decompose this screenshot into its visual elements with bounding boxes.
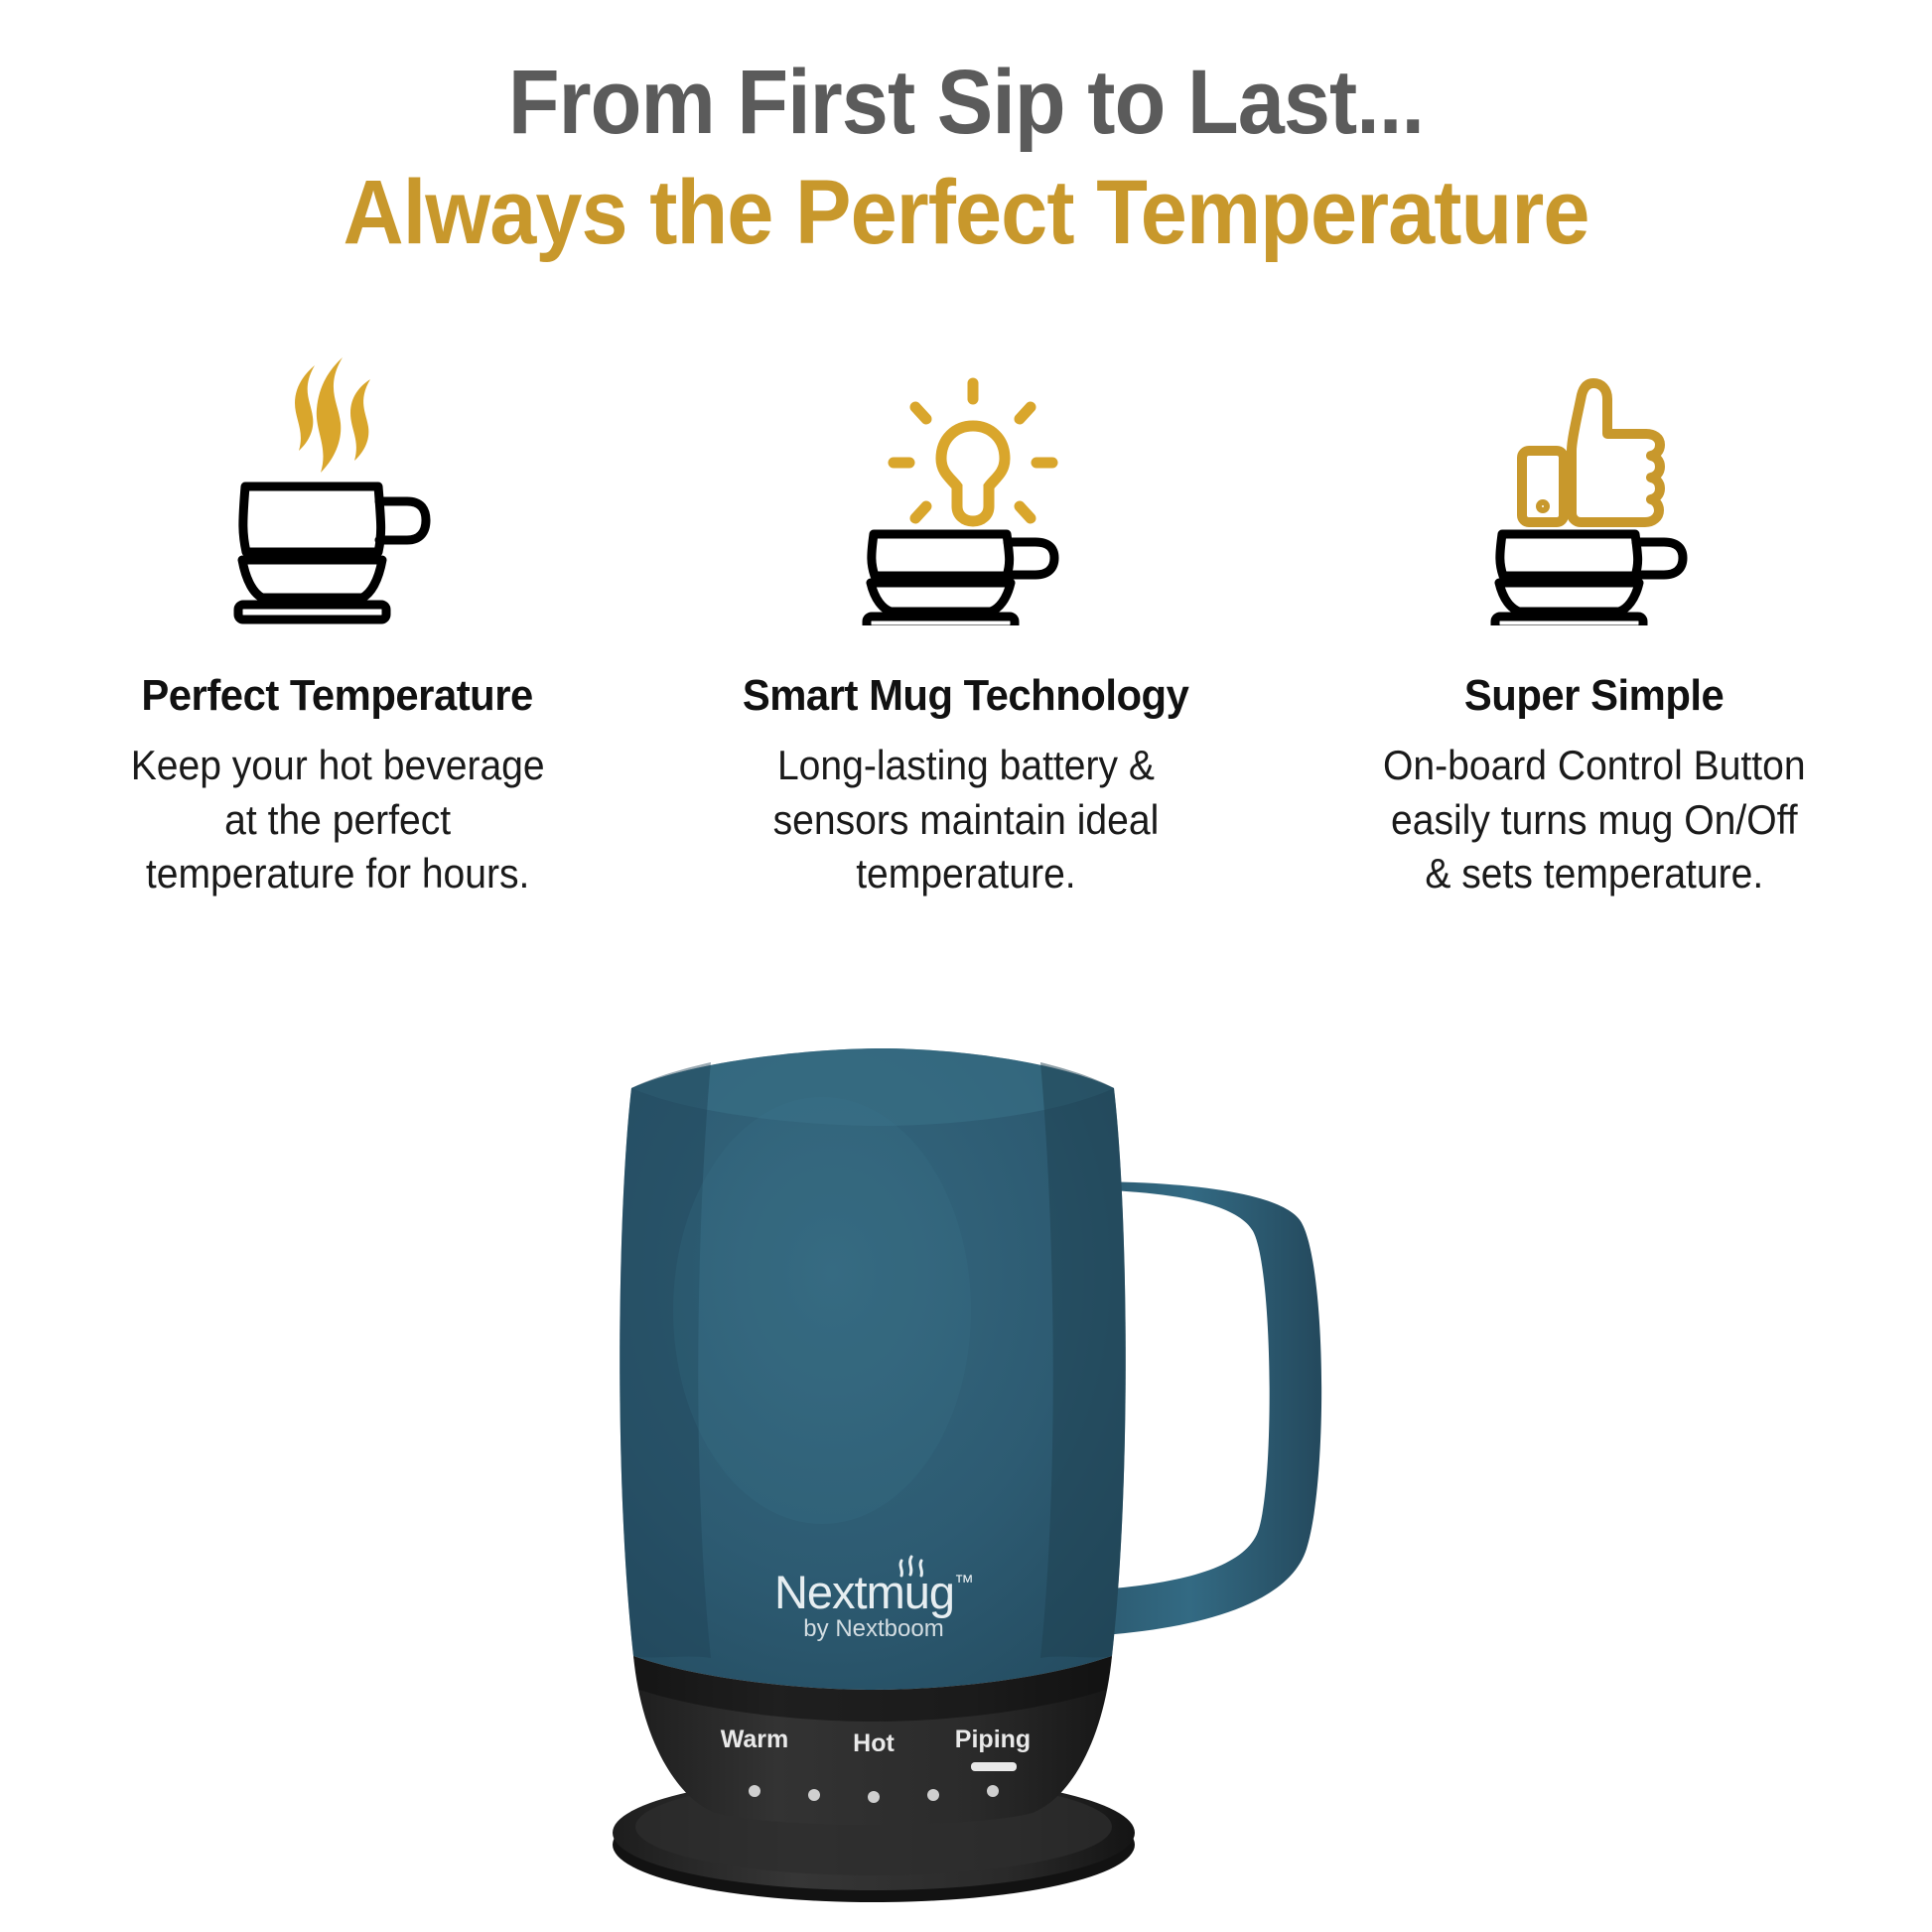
mug-outline (238, 486, 426, 620)
mug-outline (867, 534, 1054, 625)
thumbs-up-mug-icon (1446, 328, 1743, 625)
led-dot-2 (808, 1789, 820, 1801)
feature-body: On-board Control Button easily turns mug… (1383, 739, 1806, 901)
product-feature-graphic: From First Sip to Last... Always the Per… (0, 0, 1932, 1932)
product-photo-nextmug: Nextmug™ by Nextboom Warm Hot Pipi (0, 1013, 1932, 1932)
brand-logo: Nextmug™ by Nextboom (774, 1557, 973, 1642)
feature-title: Smart Mug Technology (743, 671, 1189, 721)
led-dot-3 (868, 1791, 880, 1803)
steam-icon (295, 357, 370, 473)
thumbs-up-icon (1522, 383, 1660, 522)
feature-column-perfect-temperature: Perfect Temperature Keep your hot bevera… (40, 328, 635, 901)
brand-tm: ™ (954, 1572, 973, 1593)
temp-label-hot: Hot (853, 1729, 895, 1757)
feature-columns: Perfect Temperature Keep your hot bevera… (40, 328, 1892, 901)
feature-title: Super Simple (1464, 671, 1724, 721)
svg-text:Nextmug™: Nextmug™ (774, 1566, 973, 1618)
headline-line-2: Always the Perfect Temperature (77, 162, 1855, 264)
mug-outline (1495, 534, 1683, 625)
feature-body: Long-lasting battery & sensors maintain … (773, 739, 1160, 901)
led-dot-1 (749, 1785, 760, 1797)
temp-label-warm: Warm (721, 1725, 789, 1753)
headline-line-1: From First Sip to Last... (77, 52, 1855, 154)
feature-title: Perfect Temperature (142, 671, 533, 721)
headline-block: From First Sip to Last... Always the Per… (0, 52, 1932, 264)
feature-column-super-simple: Super Simple On-board Control Button eas… (1297, 328, 1892, 901)
brand-subtitle: by Nextboom (803, 1615, 943, 1642)
feature-body: Keep your hot beverage at the perfect te… (131, 739, 545, 901)
brand-name: Nextmug (774, 1566, 954, 1618)
lightbulb-mug-icon (817, 328, 1115, 625)
steaming-mug-icon (189, 328, 486, 625)
lightbulb-icon (894, 383, 1052, 521)
feature-column-smart-mug-technology: Smart Mug Technology Long-lasting batter… (668, 328, 1264, 901)
led-dot-4 (927, 1789, 939, 1801)
temp-label-piping: Piping (955, 1725, 1031, 1753)
active-level-indicator (971, 1762, 1017, 1771)
led-dot-5 (987, 1785, 999, 1797)
